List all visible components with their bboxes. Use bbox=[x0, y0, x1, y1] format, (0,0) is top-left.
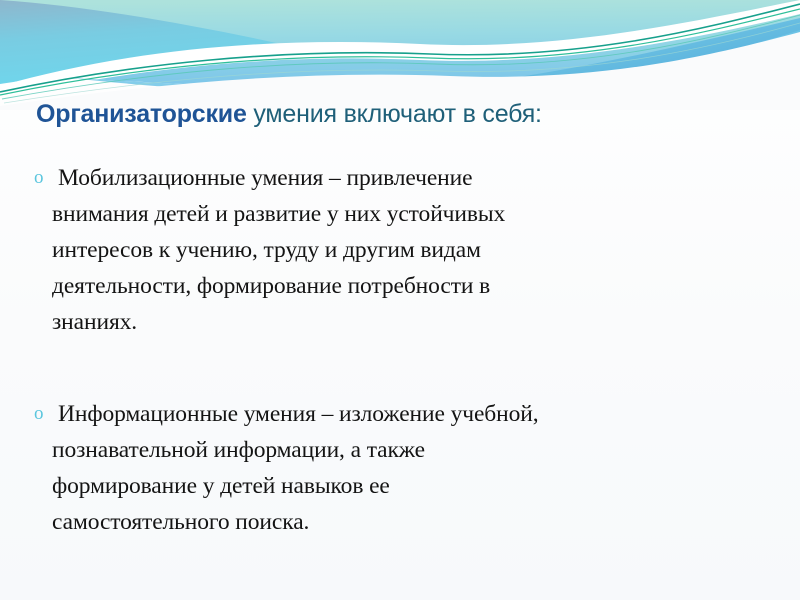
bullet-circle-icon: o bbox=[22, 160, 52, 196]
wave-banner-decoration bbox=[0, 0, 800, 110]
title-rest: умения включают в себя: bbox=[247, 100, 542, 128]
list-item: o Мобилизационные умения – привлечение в… bbox=[22, 160, 722, 340]
list-item-text: Информационные умения – изложение учебно… bbox=[52, 396, 722, 540]
text-line: знаниях. bbox=[52, 304, 722, 340]
text-line: интересов к учению, труду и другим видам bbox=[52, 232, 722, 268]
text-line: формирование у детей навыков ее bbox=[52, 468, 722, 504]
text-line: внимания детей и развитие у них устойчив… bbox=[52, 196, 722, 232]
text-line: деятельности, формирование потребности в bbox=[52, 268, 722, 304]
list-item: o Информационные умения – изложение учеб… bbox=[22, 396, 722, 540]
bullet-list: o Мобилизационные умения – привлечение в… bbox=[22, 160, 722, 540]
text-line: познавательной информации, а также bbox=[52, 432, 722, 468]
page-title: Организаторские умения включают в себя: bbox=[36, 98, 776, 130]
title-emphasis: Организаторские bbox=[36, 100, 247, 128]
slide-canvas: Организаторские умения включают в себя: … bbox=[0, 0, 800, 600]
text-line: самостоятельного поиска. bbox=[52, 504, 722, 540]
wave-banner-svg bbox=[0, 0, 800, 110]
list-item-text: Мобилизационные умения – привлечение вни… bbox=[52, 160, 722, 340]
text-line: Мобилизационные умения – привлечение bbox=[52, 160, 722, 196]
bullet-circle-icon: o bbox=[22, 396, 52, 432]
text-line: Информационные умения – изложение учебно… bbox=[52, 396, 722, 432]
